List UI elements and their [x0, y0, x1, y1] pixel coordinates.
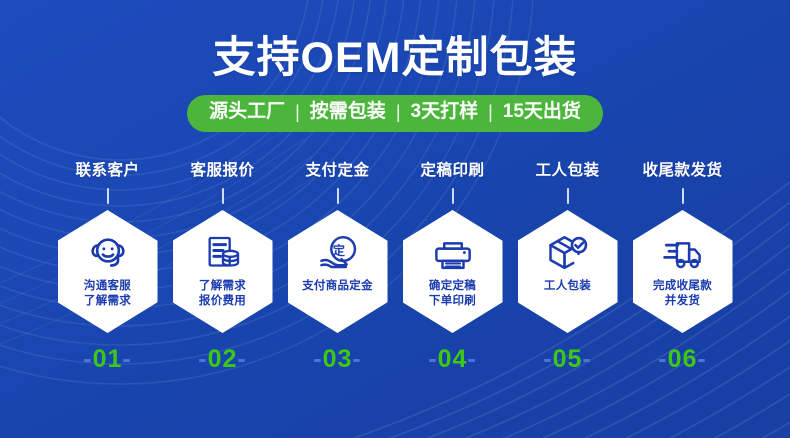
- badge-separator: |: [294, 102, 301, 124]
- step-caption: 确定定稿 下单印刷: [429, 279, 476, 309]
- step-connector-line: [682, 188, 684, 204]
- step-title: 客服报价: [190, 158, 254, 180]
- process-step-4: 定稿印刷 确定定稿 下单印刷 -04-: [403, 158, 503, 372]
- badge-source-factory: 源头工厂: [209, 101, 285, 124]
- number-dash-left: -: [313, 345, 322, 373]
- number-value: 01: [93, 345, 123, 373]
- document-coins-quote-icon: [202, 232, 244, 274]
- step-caption: 沟通客服 了解需求: [84, 279, 131, 309]
- process-steps: 联系客户 沟通客服 了解需求 -01-: [0, 158, 790, 372]
- step-hexagon-card: 完成收尾款 并发货: [633, 210, 733, 333]
- step-connector-line: [337, 188, 339, 204]
- feature-badge-bar: 源头工厂 | 按需包装 | 3天打样 | 15天出货: [0, 95, 790, 132]
- step-caption: 完成收尾款 并发货: [653, 279, 712, 309]
- step-title: 支付定金: [305, 158, 369, 180]
- process-step-1: 联系客户 沟通客服 了解需求 -01-: [58, 158, 158, 372]
- step-title: 收尾款发货: [642, 158, 722, 180]
- number-dash-left: -: [543, 345, 552, 373]
- number-dash-left: -: [428, 345, 437, 373]
- number-dash-right: -: [237, 345, 246, 373]
- number-value: 04: [438, 345, 468, 373]
- oem-packaging-process-banner: 支持OEM定制包装 源头工厂 | 按需包装 | 3天打样 | 15天出货 联系客…: [0, 0, 790, 438]
- step-title: 联系客户: [75, 158, 139, 180]
- badge-custom-packaging: 按需包装: [310, 101, 386, 124]
- process-step-3: 支付定金 定 支付商品定金 -03-: [288, 158, 388, 372]
- number-dash-right: -: [582, 345, 591, 373]
- page-title: 支持OEM定制包装: [0, 36, 790, 81]
- step-connector-line: [222, 188, 224, 204]
- badge-15day-shipping: 15天出货: [503, 101, 581, 124]
- number-value: 06: [668, 345, 698, 373]
- step-caption: 工人包装: [544, 279, 591, 294]
- number-value: 05: [553, 345, 583, 373]
- printer-icon: [432, 232, 474, 274]
- number-dash-right: -: [122, 345, 131, 373]
- feature-badges: 源头工厂 | 按需包装 | 3天打样 | 15天出货: [187, 95, 603, 132]
- number-dash-left: -: [658, 345, 667, 373]
- process-step-5: 工人包装 工人包装 -0: [518, 158, 618, 372]
- delivery-truck-icon: [662, 232, 704, 274]
- number-dash-right: -: [352, 345, 361, 373]
- number-value: 02: [208, 345, 238, 373]
- banner-header: 支持OEM定制包装 源头工厂 | 按需包装 | 3天打样 | 15天出货: [0, 0, 790, 132]
- step-hexagon-card: 定 支付商品定金: [288, 210, 388, 333]
- number-value: 03: [323, 345, 353, 373]
- step-number: -06-: [658, 347, 706, 372]
- number-dash-right: -: [697, 345, 706, 373]
- number-dash-left: -: [83, 345, 92, 373]
- step-number: -04-: [428, 347, 476, 372]
- step-number: -03-: [313, 347, 361, 372]
- box-check-package-icon: [547, 232, 589, 274]
- step-caption: 支付商品定金: [302, 279, 373, 294]
- step-hexagon-card: 沟通客服 了解需求: [58, 210, 158, 333]
- number-dash-right: -: [467, 345, 476, 373]
- svg-text:定: 定: [332, 243, 345, 258]
- step-title: 工人包装: [535, 158, 599, 180]
- badge-3day-sample: 3天打样: [411, 101, 479, 124]
- number-dash-left: -: [198, 345, 207, 373]
- badge-separator: |: [487, 102, 494, 124]
- step-hexagon-card: 了解需求 报价费用: [173, 210, 273, 333]
- step-connector-line: [452, 188, 454, 204]
- step-number: -02-: [198, 347, 246, 372]
- badge-separator: |: [395, 102, 402, 124]
- step-number: -01-: [83, 347, 131, 372]
- hand-deposit-icon: 定: [317, 232, 359, 274]
- step-hexagon-card: 工人包装: [518, 210, 618, 333]
- step-hexagon-card: 确定定稿 下单印刷: [403, 210, 503, 333]
- step-title: 定稿印刷: [420, 158, 484, 180]
- process-step-6: 收尾款发货 完成收尾款 并发货 -06-: [633, 158, 733, 372]
- step-number: -05-: [543, 347, 591, 372]
- headset-support-icon: [87, 232, 129, 274]
- step-connector-line: [567, 188, 569, 204]
- process-step-2: 客服报价 了解需求 报价费用 -02-: [173, 158, 273, 372]
- step-connector-line: [107, 188, 109, 204]
- step-caption: 了解需求 报价费用: [199, 279, 246, 309]
